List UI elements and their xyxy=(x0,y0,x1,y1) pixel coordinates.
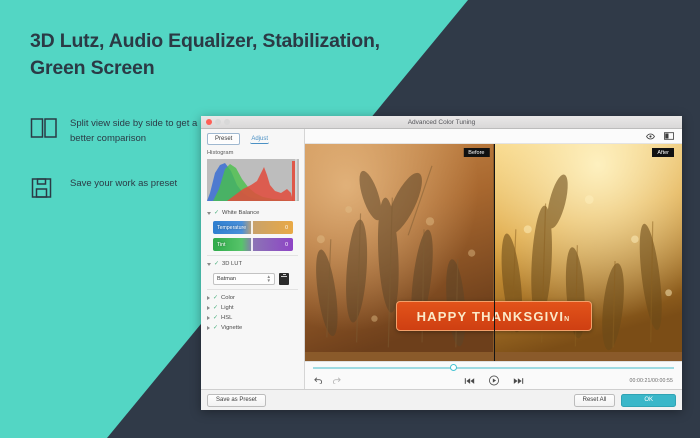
scrubber-thumb[interactable] xyxy=(450,364,457,371)
slider-thumb[interactable] xyxy=(251,221,253,234)
undo-redo-group xyxy=(314,376,341,384)
window-titlebar: Advanced Color Tuning xyxy=(201,116,682,129)
section-header-light[interactable]: ✓ Light xyxy=(207,303,298,313)
eye-icon[interactable] xyxy=(646,132,655,141)
slider-tint[interactable]: Tint 0 xyxy=(213,238,293,251)
check-icon: ✓ xyxy=(214,261,219,267)
check-icon: ✓ xyxy=(213,325,218,331)
split-divider-handle[interactable] xyxy=(494,144,496,361)
timecode-display: 00:00:21/00:00:55 xyxy=(629,378,673,384)
feature-label: Save your work as preset xyxy=(70,176,177,192)
transport-bar: 00:00:21/00:00:55 xyxy=(305,361,682,389)
left-controls-panel: Preset Adjust Histogram ✓ xyxy=(201,129,305,389)
scrubber-track[interactable] xyxy=(313,367,674,369)
window-title: Advanced Color Tuning xyxy=(201,119,682,126)
check-icon: ✓ xyxy=(213,305,218,311)
before-after-preview[interactable]: Before After HAPPY THANKSGIVIN xyxy=(305,144,682,361)
check-icon: ✓ xyxy=(213,295,218,301)
chevron-right-icon xyxy=(207,326,210,330)
footer-actions: Reset All OK xyxy=(574,394,676,407)
lut-preset-select[interactable]: Batman ▲▼ xyxy=(213,273,275,285)
play-icon[interactable] xyxy=(488,375,499,386)
check-icon: ✓ xyxy=(213,315,218,321)
section-header-vignette[interactable]: ✓ Vignette xyxy=(207,323,298,333)
split-view-icon[interactable] xyxy=(664,132,674,140)
histogram-label: Histogram xyxy=(207,150,298,156)
stepper-arrows-icon: ▲▼ xyxy=(267,275,271,283)
panel-scroll-area: Histogram ✓ White Balance xyxy=(201,148,304,389)
section-header-color[interactable]: ✓ Color xyxy=(207,293,298,303)
section-label-light: Light xyxy=(221,305,234,311)
undo-icon[interactable] xyxy=(314,376,323,384)
divider xyxy=(207,289,298,290)
split-view-icon xyxy=(30,116,58,142)
section-header-hsl[interactable]: ✓ HSL xyxy=(207,313,298,323)
save-as-preset-button[interactable]: Save as Preset xyxy=(207,394,266,407)
section-label-hsl: HSL xyxy=(221,315,232,321)
chevron-down-icon xyxy=(207,212,211,215)
panel-tabs: Preset Adjust xyxy=(201,129,304,148)
tab-preset[interactable]: Preset xyxy=(207,133,240,145)
scrubber[interactable] xyxy=(313,364,674,372)
section-label-color: Color xyxy=(221,295,235,301)
section-label-3d-lut: 3D LUT xyxy=(222,261,242,267)
slider-temperature[interactable]: Temperature 0 xyxy=(213,221,293,234)
preview-toolbar xyxy=(305,129,682,144)
histogram-graph xyxy=(207,159,299,201)
chevron-right-icon xyxy=(207,296,210,300)
window-body: Preset Adjust Histogram ✓ xyxy=(201,129,682,389)
slider-value: 0 xyxy=(285,242,288,248)
slider-value: 0 xyxy=(285,225,288,231)
feature-item-save-preset: Save your work as preset xyxy=(30,176,205,202)
trash-icon[interactable] xyxy=(279,273,289,285)
window-footer: Save as Preset Reset All OK xyxy=(201,389,682,410)
transport-controls xyxy=(464,375,523,386)
divider xyxy=(207,255,298,256)
redo-icon[interactable] xyxy=(332,376,341,384)
slider-label: Tint xyxy=(217,242,225,248)
before-badge: Before xyxy=(463,148,489,157)
after-badge: After xyxy=(652,148,674,157)
section-label-vignette: Vignette xyxy=(221,325,242,331)
section-header-white-balance[interactable]: ✓ White Balance xyxy=(207,208,298,218)
skip-forward-icon[interactable] xyxy=(513,377,523,385)
skip-back-icon[interactable] xyxy=(464,377,474,385)
feature-label: Split view side by side to get a better … xyxy=(70,116,205,146)
page-title: 3D Lutz, Audio Equalizer, Stabilization,… xyxy=(30,28,430,81)
tab-adjust[interactable]: Adjust xyxy=(250,135,269,144)
lut-controls-row: Batman ▲▼ xyxy=(213,273,298,285)
feature-item-split-view: Split view side by side to get a better … xyxy=(30,116,205,146)
lut-preset-value: Batman xyxy=(217,276,236,282)
check-icon: ✓ xyxy=(214,210,219,216)
chevron-right-icon xyxy=(207,316,210,320)
app-window: Advanced Color Tuning Preset Adjust Hist… xyxy=(201,116,682,410)
chevron-right-icon xyxy=(207,306,210,310)
ok-button[interactable]: OK xyxy=(621,394,676,407)
reset-all-button[interactable]: Reset All xyxy=(574,394,616,407)
save-preset-icon xyxy=(30,176,58,202)
slider-label: Temperature xyxy=(217,225,246,231)
section-header-3d-lut[interactable]: ✓ 3D LUT xyxy=(207,259,298,269)
section-label-white-balance: White Balance xyxy=(222,210,259,216)
slider-thumb[interactable] xyxy=(251,238,253,251)
preview-panel: Before After HAPPY THANKSGIVIN xyxy=(305,129,682,389)
chevron-down-icon xyxy=(207,263,211,266)
